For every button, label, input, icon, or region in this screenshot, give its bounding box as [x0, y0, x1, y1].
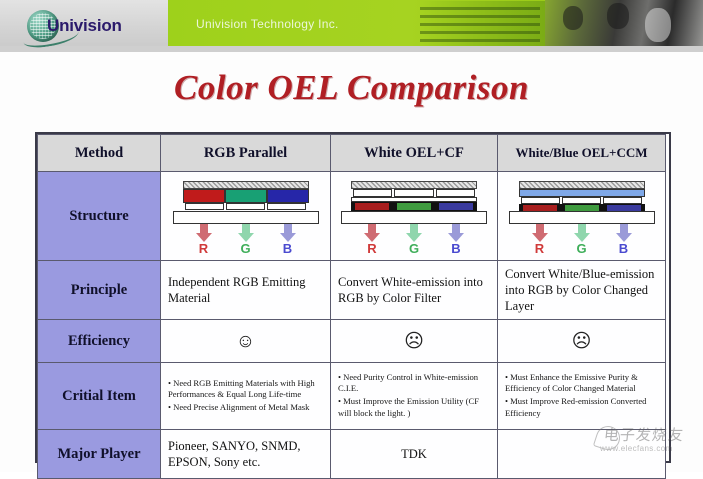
table-row-principle: Principle Independent RGB Emitting Mater…: [38, 261, 666, 320]
label-b: B: [603, 241, 645, 258]
bullet-item: • Need Purity Control in White-emission …: [338, 372, 490, 395]
diagram-white-oel-cf: R G B: [341, 179, 487, 253]
label-r: R: [351, 241, 393, 258]
label-g: G: [561, 241, 603, 258]
neutral-face-icon: ☹: [498, 320, 666, 363]
substrate-layer: [173, 211, 319, 224]
row-label-structure: Structure: [38, 172, 161, 261]
banner-photo: [395, 0, 703, 52]
rgb-labels: R G B: [183, 241, 309, 258]
banner-subtitle: Univision Technology Inc.: [196, 17, 339, 31]
emission-arrows: [351, 224, 477, 242]
people-photo: [545, 0, 703, 52]
cathode-layer: [183, 181, 309, 189]
green-emitter: [225, 189, 267, 203]
label-b: B: [435, 241, 477, 258]
green-filter: [396, 202, 432, 211]
banner-base-strip: [0, 46, 703, 52]
cell-critial-white-blue-oel-ccm: • Must Enhance the Emissive Purity & Eff…: [498, 363, 666, 430]
table-row-structure: Structure: [38, 172, 666, 261]
bullet-item: • Must Improve Red-emission Converted Ef…: [505, 396, 658, 419]
header-rgb-parallel: RGB Parallel: [161, 135, 331, 172]
label-r: R: [519, 241, 561, 258]
cell-structure-white-oel-cf: R G B: [331, 172, 498, 261]
univision-logo[interactable]: Univision: [27, 8, 162, 44]
rgb-labels: R G B: [519, 241, 645, 258]
color-filter-layer: [351, 202, 477, 211]
anode-notches: [183, 203, 309, 210]
table-row-major-player: Major Player Pioneer, SANYO, SNMD, EPSON…: [38, 430, 666, 479]
page-title: Color OEL Comparison: [0, 68, 703, 108]
header-white-oel-cf: White OEL+CF: [331, 135, 498, 172]
cathode-layer: [519, 181, 645, 189]
red-filter: [354, 202, 390, 211]
header-white-blue-oel-ccm: White/Blue OEL+CCM: [498, 135, 666, 172]
label-r: R: [183, 241, 225, 258]
row-label-efficiency: Efficiency: [38, 320, 161, 363]
slide-root: Univision Univision Technology Inc. Colo…: [0, 0, 703, 472]
table-row-critial-item: Critial Item • Need RGB Emitting Materia…: [38, 363, 666, 430]
bullet-item: • Must Enhance the Emissive Purity & Eff…: [505, 372, 658, 395]
bullet-item: • Must Improve the Emission Utility (CF …: [338, 396, 490, 419]
blue-filter: [438, 202, 474, 211]
cathode-layer: [351, 181, 477, 189]
blue-emitter: [267, 189, 309, 203]
cell-principle-white-oel-cf: Convert White-emission into RGB by Color…: [331, 261, 498, 320]
substrate-layer: [341, 211, 487, 224]
table-row-efficiency: Efficiency ☺ ☹ ☹: [38, 320, 666, 363]
equipment-photo: [420, 1, 550, 51]
logo-text: Univision: [47, 16, 122, 36]
ccm-notches: [519, 197, 645, 204]
rgb-labels: R G B: [351, 241, 477, 258]
cell-major-rgb-parallel: Pioneer, SANYO, SNMD, EPSON, Sony etc.: [161, 430, 331, 479]
diagram-rgb-parallel: R G B: [173, 179, 319, 253]
cell-structure-rgb-parallel: R G B: [161, 172, 331, 261]
blue-emitter-layer: [519, 189, 645, 197]
bullet-item: • Need RGB Emitting Materials with High …: [168, 378, 323, 401]
diagram-white-blue-oel-ccm: R G B: [509, 179, 655, 253]
substrate-layer: [509, 211, 655, 224]
label-g: G: [225, 241, 267, 258]
label-g: G: [393, 241, 435, 258]
header-method: Method: [38, 135, 161, 172]
frowning-face-icon: ☹: [331, 320, 498, 363]
cell-critial-rgb-parallel: • Need RGB Emitting Materials with High …: [161, 363, 331, 430]
cell-major-white-blue-oel-ccm: [498, 430, 666, 479]
page-banner: Univision Univision Technology Inc.: [0, 0, 703, 52]
label-b: B: [267, 241, 309, 258]
emission-arrows: [183, 224, 309, 242]
comparison-table: Method RGB Parallel White OEL+CF White/B…: [37, 134, 666, 479]
cell-critial-white-oel-cf: • Need Purity Control in White-emission …: [331, 363, 498, 430]
cell-major-white-oel-cf: TDK: [331, 430, 498, 479]
anode-notches: [351, 189, 477, 197]
table-header-row: Method RGB Parallel White OEL+CF White/B…: [38, 135, 666, 172]
cell-principle-white-blue-oel-ccm: Convert White/Blue-emission into RGB by …: [498, 261, 666, 320]
red-emitter: [183, 189, 225, 203]
emission-arrows: [519, 224, 645, 242]
smiley-face-icon: ☺: [161, 320, 331, 363]
cell-principle-rgb-parallel: Independent RGB Emitting Material: [161, 261, 331, 320]
emitter-layer: [183, 189, 309, 203]
row-label-critial-item: Critial Item: [38, 363, 161, 430]
bullet-item: • Need Precise Alignment of Metal Mask: [168, 402, 323, 414]
cell-structure-white-blue-oel-ccm: R G B: [498, 172, 666, 261]
row-label-principle: Principle: [38, 261, 161, 320]
row-label-major-player: Major Player: [38, 430, 161, 479]
